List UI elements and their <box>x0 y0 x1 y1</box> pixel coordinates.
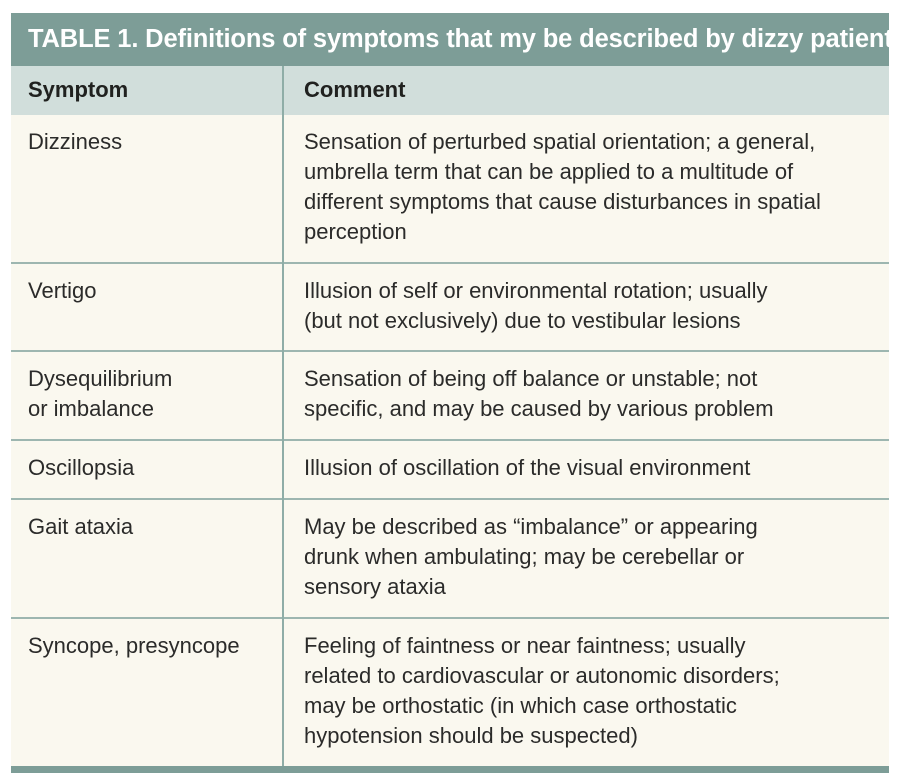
table-body: Dizziness Sensation of perturbed spatial… <box>11 115 889 766</box>
cell-symptom: Gait ataxia <box>11 499 283 618</box>
symptom-text: Vertigo <box>28 276 266 306</box>
table-title-bar: TABLE 1. Definitions of symptoms that my… <box>11 13 889 66</box>
cell-comment: Sensation of perturbed spatial orientati… <box>283 115 889 263</box>
comment-text: May be described as “imbalance” or appea… <box>304 512 867 602</box>
table-title: TABLE 1. Definitions of symptoms that my… <box>28 25 900 54</box>
table-row: Oscillopsia Illusion of oscillation of t… <box>11 440 889 499</box>
cell-comment: Illusion of oscillation of the visual en… <box>283 440 889 499</box>
table-row: Gait ataxia May be described as “imbalan… <box>11 499 889 618</box>
comment-text: Illusion of oscillation of the visual en… <box>304 453 867 483</box>
column-header-symptom: Symptom <box>11 66 283 115</box>
comment-text: Sensation of being off balance or unstab… <box>304 364 867 424</box>
table-row: Vertigo Illusion of self or environmenta… <box>11 263 889 352</box>
table-figure: TABLE 1. Definitions of symptoms that my… <box>11 13 889 773</box>
table-bottom-rule <box>11 766 889 773</box>
cell-symptom: Vertigo <box>11 263 283 352</box>
cell-symptom: Oscillopsia <box>11 440 283 499</box>
cell-comment: May be described as “imbalance” or appea… <box>283 499 889 618</box>
table-row: Syncope, presyncope Feeling of faintness… <box>11 618 889 766</box>
symptom-text: Oscillopsia <box>28 453 266 483</box>
symptom-text: Syncope, presyncope <box>28 631 266 661</box>
table-header: Symptom Comment <box>11 66 889 115</box>
symptom-definitions-table: Symptom Comment Dizziness Sensation of p… <box>11 66 889 766</box>
comment-text: Sensation of perturbed spatial orientati… <box>304 127 867 247</box>
cell-comment: Feeling of faintness or near faintness; … <box>283 618 889 766</box>
cell-symptom: Dysequilibrium or imbalance <box>11 351 283 440</box>
symptom-text: Dysequilibrium or imbalance <box>28 364 266 424</box>
symptom-text: Gait ataxia <box>28 512 266 542</box>
column-header-comment: Comment <box>283 66 889 115</box>
cell-symptom: Dizziness <box>11 115 283 263</box>
table-row: Dysequilibrium or imbalance Sensation of… <box>11 351 889 440</box>
comment-text: Illusion of self or environmental rotati… <box>304 276 867 336</box>
cell-comment: Sensation of being off balance or unstab… <box>283 351 889 440</box>
symptom-text: Dizziness <box>28 127 266 157</box>
table-header-row: Symptom Comment <box>11 66 889 115</box>
cell-symptom: Syncope, presyncope <box>11 618 283 766</box>
cell-comment: Illusion of self or environmental rotati… <box>283 263 889 352</box>
comment-text: Feeling of faintness or near faintness; … <box>304 631 867 751</box>
table-row: Dizziness Sensation of perturbed spatial… <box>11 115 889 263</box>
